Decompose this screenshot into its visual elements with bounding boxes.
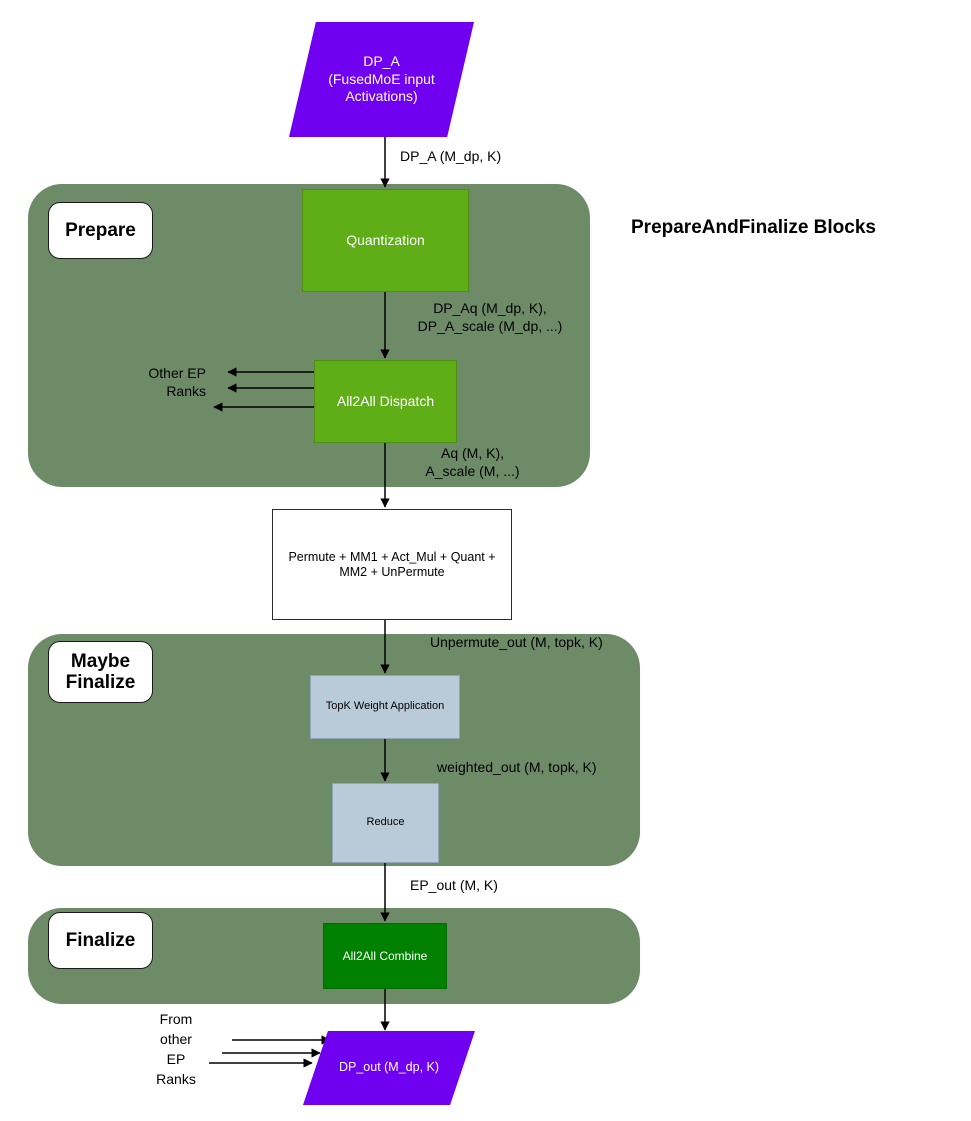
- section-label-maybe-finalize: Maybe Finalize: [48, 641, 153, 703]
- section-label-finalize: Finalize: [48, 912, 153, 969]
- node-topk-weight-application[interactable]: TopK Weight Application: [310, 675, 460, 739]
- node-all2all-combine[interactable]: All2All Combine: [323, 923, 447, 989]
- section-label-prepare: Prepare: [48, 202, 153, 259]
- annotation-from-other-ep-ranks: From other EP Ranks: [140, 1010, 212, 1090]
- edge-label-dp-aq: DP_Aq (M_dp, K), DP_A_scale (M_dp, ...): [400, 299, 580, 336]
- page-title: PrepareAndFinalize Blocks: [631, 215, 951, 240]
- node-dp-a-input[interactable]: DP_A (FusedMoE input Activations): [289, 22, 474, 137]
- edge-label-dp-a: DP_A (M_dp, K): [400, 147, 501, 165]
- edge-label-unpermute-out: Unpermute_out (M, topk, K): [430, 633, 603, 651]
- edge-label-aq: Aq (M, K), A_scale (M, ...): [400, 444, 545, 481]
- node-expert-compute[interactable]: Permute + MM1 + Act_Mul + Quant + MM2 + …: [272, 509, 512, 620]
- annotation-other-ep-ranks: Other EP Ranks: [116, 364, 206, 401]
- node-all2all-dispatch[interactable]: All2All Dispatch: [314, 360, 457, 443]
- edge-label-weighted-out: weighted_out (M, topk, K): [437, 758, 597, 776]
- diagram-canvas: Prepare Maybe Finalize Finalize PrepareA…: [0, 0, 971, 1121]
- node-dp-out[interactable]: DP_out (M_dp, K): [303, 1031, 475, 1105]
- node-reduce[interactable]: Reduce: [332, 783, 439, 863]
- node-quantization[interactable]: Quantization: [302, 189, 469, 292]
- edge-label-ep-out: EP_out (M, K): [410, 876, 498, 894]
